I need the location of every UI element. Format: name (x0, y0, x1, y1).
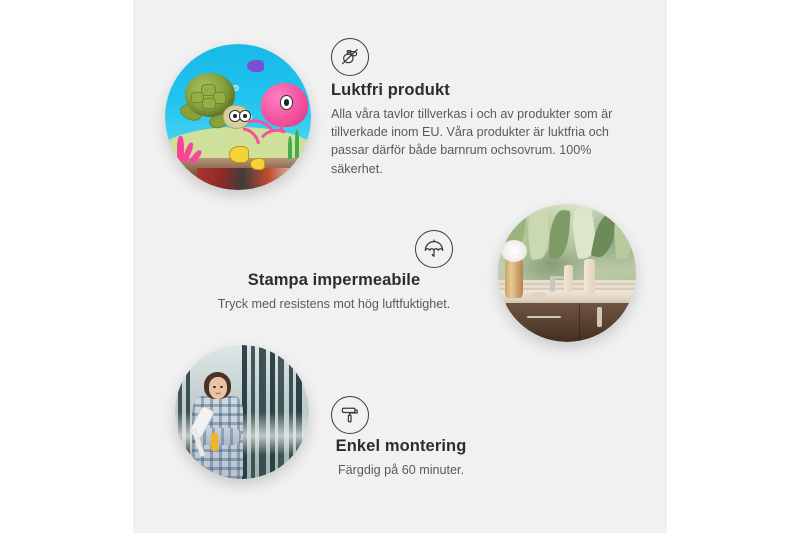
feature-title: Enkel montering (271, 436, 531, 457)
door-handle (597, 307, 602, 327)
bathroom-vanity-photo (498, 204, 636, 342)
tool (211, 433, 218, 450)
woman-face (209, 377, 228, 398)
vanity-cabinet (506, 303, 636, 342)
feature-description: Färgdig på 60 minuter. (271, 461, 531, 479)
screenshot-canvas: Luktfri produkt Alla våra tavlor tillver… (0, 0, 800, 533)
sea-foreground-strip (197, 168, 299, 190)
vase (505, 256, 523, 297)
yellow-fish-icon (250, 158, 265, 170)
drawer-handle (527, 316, 561, 318)
waterproof-text-block: Stampa impermeabile Tryck med resistens … (169, 270, 499, 313)
feature-description: Alla våra tavlor tillverkas i och av pro… (331, 105, 633, 179)
easy-mounting-text-block: Enkel montering Färgdig på 60 minuter. (271, 436, 531, 479)
bottle (584, 259, 595, 294)
underwater-kids-mural-photo (165, 44, 311, 190)
feature-title: Luktfri produkt (331, 80, 633, 101)
flower (501, 240, 527, 262)
paint-roller-icon (331, 396, 369, 434)
soap-dish (531, 292, 546, 298)
odourless-text-block: Luktfri produkt Alla våra tavlor tillver… (331, 80, 633, 178)
yellow-fish-icon (229, 146, 249, 163)
umbrella-icon (415, 230, 453, 268)
no-fragrance-icon (331, 38, 369, 76)
content-panel: Luktfri produkt Alla våra tavlor tillver… (133, 0, 667, 533)
feature-description: Tryck med resistens mot hög luftfuktighe… (169, 295, 499, 313)
seaweed (288, 136, 292, 159)
feature-title: Stampa impermeabile (169, 270, 499, 291)
blue-fish-icon (247, 60, 265, 72)
bottle (564, 265, 572, 293)
